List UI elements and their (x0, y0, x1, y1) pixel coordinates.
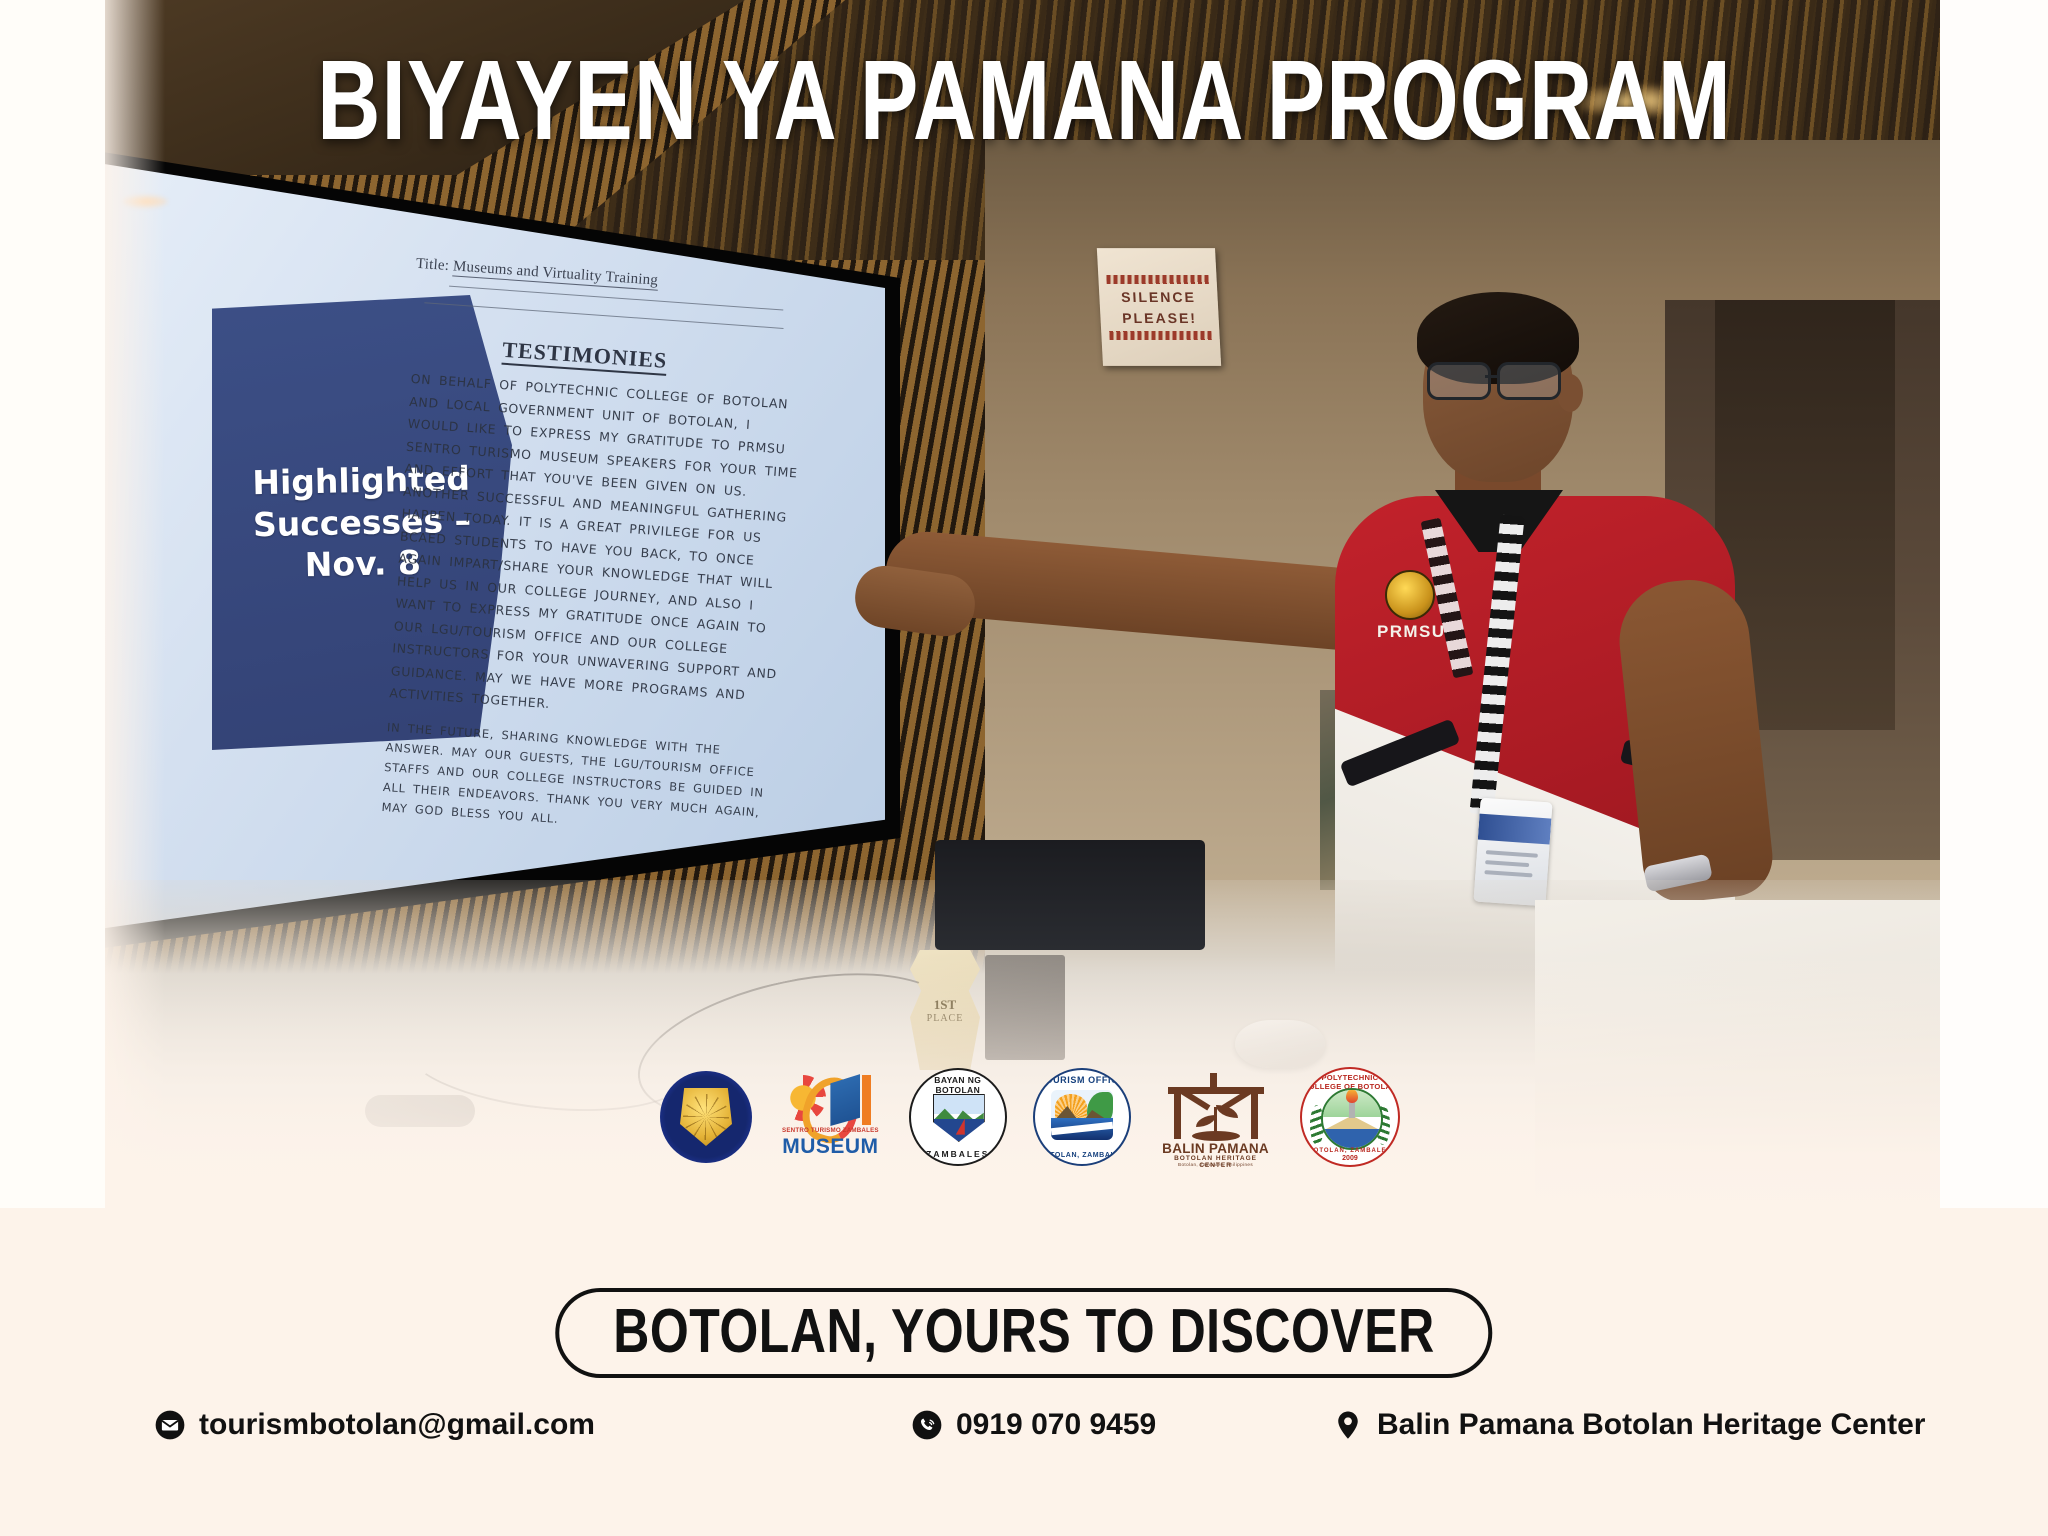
prmsu-rays (683, 1094, 729, 1140)
lens-right (1497, 362, 1561, 400)
tagline-pill: BOTOLAN, YOURS TO DISCOVER (555, 1288, 1492, 1378)
tourism-office-seal-logo: TOURISM OFFICE BOTOLAN, ZAMBALES (1033, 1068, 1131, 1166)
tourism-scene (1051, 1090, 1113, 1140)
polytechnic-college-seal-logo: POLYTECHNIC COLLEGE OF BOTOLAN BOTOLAN, … (1300, 1067, 1400, 1167)
pcb-flame-icon (1346, 1089, 1358, 1103)
glasses-bridge (1485, 375, 1499, 378)
botolan-seal-ring-top: BAYAN NG BOTOLAN (911, 1075, 1005, 1095)
id-card-line-2 (1485, 860, 1529, 867)
projection-screen: Highlighted Successes – Nov. 8 Title: Mu… (105, 155, 885, 937)
poster-title-text: BIYAYEN YA PAMANA PROGRAM (317, 36, 1732, 167)
balin-wordmark: BALIN PAMANA (1158, 1141, 1274, 1156)
pcb-ring-bottom: BOTOLAN, ZAMBALES (1302, 1148, 1398, 1154)
tourism-ring-top: TOURISM OFFICE (1035, 1075, 1129, 1085)
monitor (935, 840, 1205, 950)
phone-icon (912, 1410, 942, 1440)
balin-pamana-logo: BALIN PAMANA BOTOLAN HERITAGE CENTER Bot… (1158, 1069, 1274, 1165)
pcb-inner-emblem (1321, 1088, 1383, 1150)
botolan-seal-ring-bottom: ZAMBALES (911, 1149, 1005, 1159)
id-card-band (1478, 814, 1552, 845)
map-pin-icon (1333, 1410, 1363, 1440)
tourism-ring-bottom: BOTOLAN, ZAMBALES (1035, 1152, 1129, 1159)
contact-email[interactable]: tourismbotolan@gmail.com (155, 1408, 595, 1442)
bayan-ng-botolan-seal-logo: BAYAN NG BOTOLAN ZAMBALES (909, 1068, 1007, 1166)
botolan-seal-crest (933, 1094, 985, 1142)
museum-orange-bar (862, 1075, 871, 1125)
page-margin-right (1940, 0, 2048, 1215)
prmsu-seal-logo (660, 1071, 752, 1163)
museum-subtitle: SENTRO TURISMO ZAMBALES (778, 1127, 882, 1134)
balin-post-right (1251, 1087, 1258, 1139)
document-title-label: Title: (415, 256, 449, 274)
event-photo: Highlighted Successes – Nov. 8 Title: Mu… (105, 0, 1940, 1215)
balin-leaf-left (1196, 1115, 1216, 1127)
balin-subtitle-2: Botolan, Zambales, Philippines (1158, 1162, 1274, 1167)
balin-post-left (1174, 1087, 1181, 1139)
contact-bar: tourismbotolan@gmail.com 0919 070 9459 B… (0, 1408, 2048, 1478)
document-handwriting: ON BEHALF OF POLYTECHNIC COLLEGE OF BOTO… (381, 368, 811, 844)
balin-beam (1168, 1087, 1264, 1094)
id-card-line-1 (1486, 850, 1538, 858)
crest-sky (934, 1095, 984, 1114)
document-title-row: Title: Museums and Virtuality Training (415, 256, 658, 290)
pcb-water (1323, 1129, 1381, 1148)
testimony-document: Title: Museums and Virtuality Training T… (370, 244, 825, 861)
document-body-2: IN THE FUTURE, SHARING KNOWLEDGE WITH TH… (381, 717, 787, 844)
museum-wordmark: MUSEUM (778, 1135, 882, 1159)
contact-location-text: Balin Pamana Botolan Heritage Center (1377, 1408, 1925, 1442)
envelope-icon (155, 1410, 185, 1440)
sign-band-top (1106, 275, 1208, 284)
document-heading: TESTIMONIES (501, 337, 668, 376)
prmsu-shield (680, 1088, 732, 1146)
pcb-founding-year: 2009 (1302, 1155, 1398, 1162)
page-margin-left (0, 0, 105, 1215)
partner-logo-row: SENTRO TURISMO ZAMBALES MUSEUM BAYAN NG … (660, 1062, 1400, 1172)
document-title-value: Museums and Virtuality Training (452, 258, 658, 290)
prmsu-shirt-label: PRMSU (1377, 622, 1445, 642)
balin-soil (1192, 1131, 1240, 1141)
tagline-text: BOTOLAN, YOURS TO DISCOVER (613, 1295, 1434, 1367)
prmsu-shirt-patch-icon (1385, 570, 1435, 620)
id-card-line-3 (1484, 870, 1532, 877)
contact-location[interactable]: Balin Pamana Botolan Heritage Center (1333, 1408, 1925, 1442)
contact-phone-text: 0919 070 9459 (956, 1408, 1156, 1442)
museum-logo: SENTRO TURISMO ZAMBALES MUSEUM (778, 1069, 882, 1165)
poster-title: BIYAYEN YA PAMANA PROGRAM (0, 52, 2048, 151)
document-body-1: ON BEHALF OF POLYTECHNIC COLLEGE OF BOTO… (389, 371, 798, 711)
balin-leaf-right (1216, 1105, 1238, 1118)
contact-email-text: tourismbotolan@gmail.com (199, 1408, 595, 1442)
lens-left (1427, 362, 1491, 400)
eyeglasses-icon (1427, 362, 1567, 396)
contact-phone[interactable]: 0919 070 9459 (912, 1408, 1156, 1442)
